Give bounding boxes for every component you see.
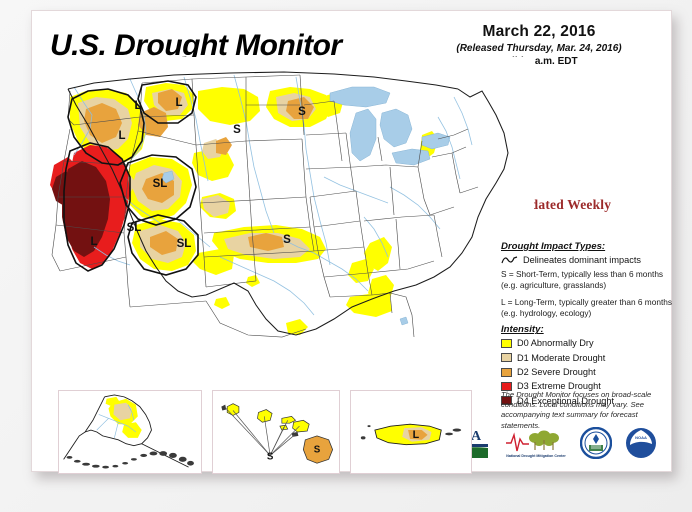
screenshot-root: U.S. Drought Monitor March 22, 2016 (Rel… [0,0,692,512]
puerto-rico-label-l: L [413,429,420,441]
legend-label-d2: D2 Severe Drought [517,367,596,377]
svg-text:National Drought Mitigation Ce: National Drought Mitigation Center [506,454,566,458]
legend-label-d0: D0 Abnormally Dry [517,338,594,348]
legend-label-d1: D1 Moderate Drought [517,353,605,363]
legend-impact-heading: Drought Impact Types: [501,241,673,252]
legend-item-d1: D1 Moderate Drought [501,353,673,363]
legend-short-term-note: S = Short-Term, typically less than 6 mo… [501,269,673,291]
label-l-2: L [175,97,182,109]
puerto-rico-inset-map[interactable]: L [350,390,472,474]
legend-long-term-note: L = Long-Term, typically greater than 6 … [501,297,673,319]
label-l-3: L [118,130,125,142]
map-date: March 22, 2016 [430,23,648,41]
hawaii-label-s-2: S [314,445,321,456]
legend-delineates-row: Delineates dominant impacts [501,255,673,265]
legend-intensity-heading: Intensity: [501,324,673,335]
label-s-1: S [233,124,241,136]
svg-text:NOAA: NOAA [635,435,647,440]
squiggle-icon [501,256,518,265]
swatch-d1 [501,353,512,362]
label-l-1: L [134,100,141,112]
release-date: (Released Thursday, Mar. 24, 2016) [430,43,648,54]
legend-delineates-label: Delineates dominant impacts [523,255,641,265]
hawaii-inset-map[interactable]: S S [212,390,340,474]
legend-item-d2: D2 Severe Drought [501,367,673,377]
label-s-2: S [298,106,306,118]
label-l-4: L [90,236,97,248]
puerto-rico-labels: L [413,429,420,441]
label-s-3: S [283,234,291,246]
swatch-d2 [501,368,512,377]
label-sl-2: SL [127,222,142,234]
legend-item-d0: D0 Abnormally Dry [501,338,673,348]
label-sl-3: SL [177,238,192,250]
island-kauai [227,404,239,416]
contiguous-us-map[interactable]: L L L S S SL SL L SL S [34,57,534,357]
hawaii-label-s-1: S [267,451,274,462]
drought-monitor-card: U.S. Drought Monitor March 22, 2016 (Rel… [31,10,672,472]
usdc-seal-logo[interactable] [580,427,612,459]
legend-panel: Drought Impact Types: Delineates dominan… [501,241,673,410]
swatch-d0 [501,339,512,348]
noaa-logo[interactable]: NOAA [625,427,657,459]
alaska-inset-map[interactable] [58,390,202,474]
national-drought-mitigation-center-logo[interactable]: National Drought Mitigation Center [505,427,567,459]
label-sl-1: SL [153,178,168,190]
